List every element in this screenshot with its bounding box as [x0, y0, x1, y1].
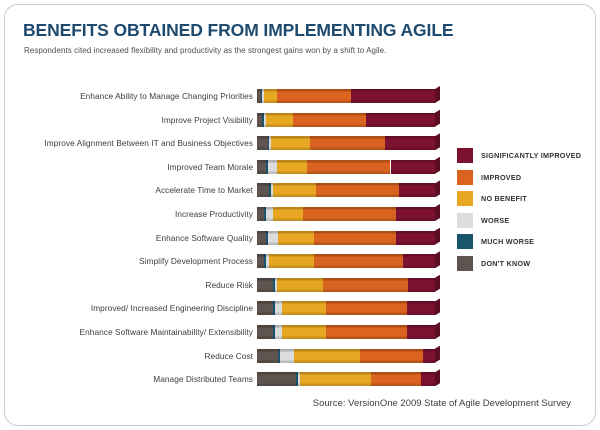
segment-face	[421, 372, 435, 386]
segment-face	[360, 349, 422, 363]
legend-label: IMPROVED	[481, 173, 521, 182]
category-label: Enhance Ability to Manage Changing Prior…	[80, 89, 253, 103]
bar-segment-dont_know[interactable]	[257, 136, 268, 150]
segment-face	[323, 278, 408, 292]
bar-segment-no_benefit[interactable]	[269, 254, 314, 268]
bar-endcap	[435, 251, 440, 268]
segment-face	[257, 372, 296, 386]
bar-segment-dont_know[interactable]	[257, 301, 273, 315]
bar-segment-no_benefit[interactable]	[277, 160, 307, 174]
category-label: Improve Project Visibility	[161, 113, 253, 127]
segment-face	[269, 254, 314, 268]
segment-face	[303, 207, 396, 221]
category-label: Improved/ Increased Engineering Discipli…	[91, 301, 253, 315]
bar-segment-improved[interactable]	[314, 254, 403, 268]
bar-endcap-face	[435, 110, 440, 127]
chart-row: Increase Productivity	[5, 207, 445, 231]
segment-face	[257, 231, 266, 245]
bar-endcap-face	[435, 157, 440, 174]
bar-endcap-face	[435, 346, 440, 363]
bar-endcap	[435, 204, 440, 221]
legend-item-worse[interactable]: WORSE	[457, 212, 587, 234]
category-label: Increase Productivity	[175, 207, 253, 221]
segment-face	[293, 113, 366, 127]
legend-label: NO BENEFIT	[481, 194, 527, 203]
segment-face	[257, 136, 268, 150]
bar-segment-improved[interactable]	[307, 160, 391, 174]
bar-segment-worse[interactable]	[266, 207, 273, 221]
bar-segment-significantly_improved[interactable]	[351, 89, 435, 103]
segment-face	[407, 325, 435, 339]
chart-row: Reduce Risk	[5, 278, 445, 302]
bar-segment-dont_know[interactable]	[257, 207, 264, 221]
segment-face	[257, 325, 273, 339]
segment-face	[282, 325, 327, 339]
segment-face	[326, 301, 406, 315]
bar-segment-significantly_improved[interactable]	[385, 136, 435, 150]
bar-segment-no_benefit[interactable]	[294, 349, 360, 363]
segment-face	[391, 160, 436, 174]
bar-endcap-face	[435, 369, 440, 386]
bar-endcap	[435, 369, 440, 386]
bar-segment-no_benefit[interactable]	[266, 113, 293, 127]
legend-swatch-dont_know	[457, 256, 473, 271]
chart-row: Enhance Software Quality	[5, 231, 445, 255]
bar-endcap	[435, 133, 440, 150]
segment-face	[257, 349, 278, 363]
chart-row: Accelerate Time to Market	[5, 183, 445, 207]
bar-segment-significantly_improved[interactable]	[396, 231, 435, 245]
bar-segment-no_benefit[interactable]	[282, 301, 327, 315]
bar-segment-dont_know[interactable]	[257, 183, 269, 197]
bar-endcap-face	[435, 275, 440, 292]
legend-swatch-improved	[457, 170, 473, 185]
bar-segment-improved[interactable]	[293, 113, 366, 127]
category-label: Simplify Development Process	[139, 254, 253, 268]
segment-face	[408, 278, 435, 292]
bar-segment-worse[interactable]	[280, 349, 294, 363]
segment-face	[278, 231, 314, 245]
segment-face	[264, 89, 276, 103]
category-label: Enhance Software Maintainability/ Extens…	[80, 325, 253, 339]
segment-face	[268, 160, 277, 174]
segment-face	[314, 231, 396, 245]
legend-label: WORSE	[481, 216, 509, 225]
bar-segment-significantly_improved[interactable]	[399, 183, 435, 197]
legend-swatch-much_worse	[457, 234, 473, 249]
legend-item-significantly_improved[interactable]: SIGNIFICANTLY IMPROVED	[457, 147, 587, 169]
segment-face	[399, 183, 435, 197]
bar-segment-significantly_improved[interactable]	[423, 349, 435, 363]
segment-face	[257, 301, 273, 315]
bar-segment-improved[interactable]	[310, 136, 385, 150]
bar-segment-improved[interactable]	[326, 325, 406, 339]
bar-endcap-face	[435, 251, 440, 268]
category-label: Enhance Software Quality	[156, 231, 253, 245]
segment-face	[300, 372, 371, 386]
bar-segment-significantly_improved[interactable]	[407, 301, 435, 315]
bar-segment-dont_know[interactable]	[257, 254, 264, 268]
legend-label: DON'T KNOW	[481, 259, 530, 268]
segment-face	[366, 113, 435, 127]
segment-face	[266, 113, 293, 127]
bar-endcap-face	[435, 133, 440, 150]
bar-endcap	[435, 180, 440, 197]
segment-face	[423, 349, 435, 363]
bar-endcap	[435, 346, 440, 363]
bar-segment-improved[interactable]	[360, 349, 422, 363]
bar-segment-no_benefit[interactable]	[273, 207, 303, 221]
chart-row: Manage Distributed Teams	[5, 372, 445, 396]
bar-endcap-face	[435, 86, 440, 103]
segment-face	[371, 372, 421, 386]
source-note: Source: VersionOne 2009 State of Agile D…	[313, 398, 571, 409]
legend-swatch-significantly_improved	[457, 148, 473, 163]
bar-endcap	[435, 228, 440, 245]
segment-face	[273, 183, 316, 197]
bar-endcap-face	[435, 180, 440, 197]
legend-item-much_worse[interactable]: MUCH WORSE	[457, 233, 587, 255]
category-label: Reduce Cost	[204, 349, 253, 363]
legend-item-improved[interactable]: IMPROVED	[457, 169, 587, 191]
segment-face	[266, 207, 273, 221]
bar-segment-dont_know[interactable]	[257, 231, 266, 245]
segment-face	[257, 160, 266, 174]
segment-face	[257, 183, 269, 197]
chart-row: Simplify Development Process	[5, 254, 445, 278]
chart-legend: SIGNIFICANTLY IMPROVEDIMPROVEDNO BENEFIT…	[457, 147, 587, 276]
segment-face	[314, 254, 403, 268]
category-label: Improved Team Morale	[167, 160, 253, 174]
segment-face	[385, 136, 435, 150]
segment-face	[277, 160, 307, 174]
segment-face	[403, 254, 435, 268]
bar-endcap	[435, 275, 440, 292]
category-label: Manage Distributed Teams	[153, 372, 253, 386]
segment-face	[396, 207, 435, 221]
segment-face	[257, 254, 264, 268]
segment-face	[277, 89, 352, 103]
segment-face	[277, 278, 323, 292]
bar-segment-improved[interactable]	[326, 301, 406, 315]
segment-face	[407, 301, 435, 315]
bar-segment-no_benefit[interactable]	[273, 183, 316, 197]
bar-segment-significantly_improved[interactable]	[421, 372, 435, 386]
segment-face	[310, 136, 385, 150]
segment-face	[268, 231, 279, 245]
chart-subtitle: Respondents cited increased flexibility …	[24, 46, 386, 55]
segment-face	[280, 349, 294, 363]
bar-endcap	[435, 298, 440, 315]
bar-endcap-face	[435, 322, 440, 339]
bar-endcap	[435, 157, 440, 174]
bar-segment-no_benefit[interactable]	[278, 231, 314, 245]
legend-swatch-no_benefit	[457, 191, 473, 206]
bar-segment-improved[interactable]	[314, 231, 396, 245]
segment-face	[294, 349, 360, 363]
legend-label: MUCH WORSE	[481, 237, 534, 246]
chart-row: Reduce Cost	[5, 349, 445, 373]
segment-face	[257, 207, 264, 221]
bar-segment-significantly_improved[interactable]	[407, 325, 435, 339]
segment-face	[316, 183, 400, 197]
bar-segment-worse[interactable]	[268, 231, 279, 245]
legend-label: SIGNIFICANTLY IMPROVED	[481, 151, 581, 160]
bar-segment-no_benefit[interactable]	[282, 325, 327, 339]
segment-face	[257, 278, 273, 292]
bar-segment-improved[interactable]	[303, 207, 396, 221]
bar-segment-no_benefit[interactable]	[271, 136, 310, 150]
bar-segment-dont_know[interactable]	[257, 278, 273, 292]
bar-segment-worse[interactable]	[275, 325, 282, 339]
legend-swatch-worse	[457, 213, 473, 228]
bar-endcap	[435, 322, 440, 339]
segment-face	[307, 160, 391, 174]
category-label: Improve Alignment Between IT and Busines…	[44, 136, 253, 150]
bar-segment-significantly_improved[interactable]	[366, 113, 435, 127]
bar-segment-significantly_improved[interactable]	[396, 207, 435, 221]
bar-endcap-face	[435, 204, 440, 221]
category-label: Accelerate Time to Market	[155, 183, 253, 197]
bar-segment-improved[interactable]	[371, 372, 421, 386]
segment-face	[282, 301, 327, 315]
chart-row: Improve Project Visibility	[5, 113, 445, 137]
bar-segment-no_benefit[interactable]	[264, 89, 276, 103]
chart-row: Improved Team Morale	[5, 160, 445, 184]
bar-endcap	[435, 110, 440, 127]
bar-endcap-face	[435, 298, 440, 315]
bar-segment-dont_know[interactable]	[257, 160, 266, 174]
segment-face	[351, 89, 435, 103]
bar-segment-significantly_improved[interactable]	[403, 254, 435, 268]
bar-segment-dont_know[interactable]	[257, 325, 273, 339]
chart-title: BENEFITS OBTAINED FROM IMPLEMENTING AGIL…	[23, 20, 453, 41]
bar-segment-no_benefit[interactable]	[277, 278, 323, 292]
bar-segment-dont_know[interactable]	[257, 372, 296, 386]
bar-segment-significantly_improved[interactable]	[408, 278, 435, 292]
bar-segment-improved[interactable]	[323, 278, 408, 292]
bar-segment-dont_know[interactable]	[257, 349, 278, 363]
chart-row: Enhance Ability to Manage Changing Prior…	[5, 89, 445, 113]
segment-face	[271, 136, 310, 150]
segment-face	[326, 325, 406, 339]
chart-row: Improve Alignment Between IT and Busines…	[5, 136, 445, 160]
segment-face	[273, 207, 303, 221]
bar-segment-worse[interactable]	[275, 301, 282, 315]
bar-endcap-face	[435, 228, 440, 245]
bar-segment-no_benefit[interactable]	[300, 372, 371, 386]
segment-face	[275, 325, 282, 339]
segment-face	[396, 231, 435, 245]
bar-segment-worse[interactable]	[268, 160, 277, 174]
chart-card: BENEFITS OBTAINED FROM IMPLEMENTING AGIL…	[4, 4, 596, 426]
bar-endcap	[435, 86, 440, 103]
bar-segment-improved[interactable]	[277, 89, 352, 103]
legend-item-no_benefit[interactable]: NO BENEFIT	[457, 190, 587, 212]
segment-face	[275, 301, 282, 315]
bar-segment-improved[interactable]	[316, 183, 400, 197]
chart-row: Improved/ Increased Engineering Discipli…	[5, 301, 445, 325]
bar-segment-significantly_improved[interactable]	[391, 160, 436, 174]
category-label: Reduce Risk	[205, 278, 253, 292]
legend-item-dont_know[interactable]: DON'T KNOW	[457, 255, 587, 277]
chart-row: Enhance Software Maintainability/ Extens…	[5, 325, 445, 349]
